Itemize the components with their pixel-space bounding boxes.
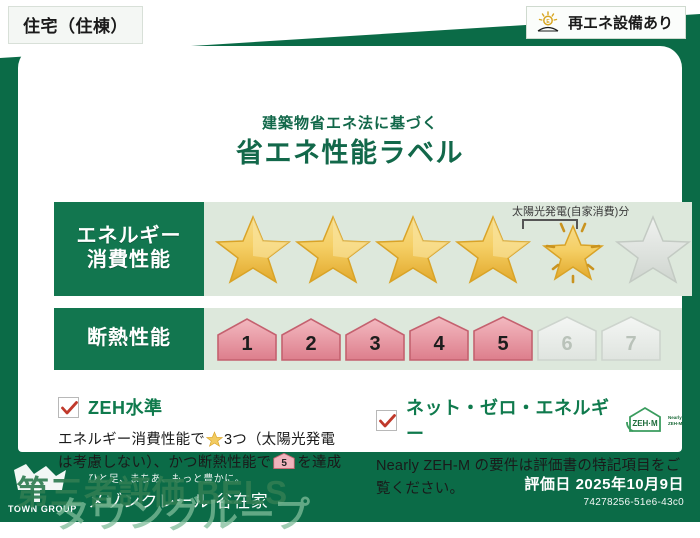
label-card: 建築物省エネ法に基づく 省エネ性能ラベル エネルギー 消費性能 太陽光発電(自家… (18, 46, 682, 452)
net-zero-title: ネット・ゼロ・エネルギー (406, 394, 615, 446)
evaluation-info: 評価日 2025年10月9日 74278256-51e6-43c0 (524, 473, 684, 508)
star-icon-solar-5 (534, 212, 612, 286)
zeh-standard-title: ZEH水準 (88, 394, 163, 420)
property-tagline: ひと足、まちあ、もっと豊かに。 (88, 470, 268, 485)
town-group-text: TOWN GROUP (8, 504, 77, 514)
insulation-level-2: 2 (280, 316, 342, 362)
star-icon-filled-1 (214, 212, 292, 286)
insulation-level-6: 6 (536, 316, 598, 362)
energy-label-line2: 消費性能 (87, 249, 171, 273)
insulation-level-3: 3 (344, 316, 406, 362)
insulation-rating-panel: 1 2 3 4 (204, 308, 682, 370)
insulation-level-1-label: 1 (216, 316, 278, 362)
energy-label-root: 住宅（住棟） E 再エネ設備あり 建築物省エネ法に基づく 省エネ性能ラベル エネ… (0, 0, 700, 522)
property-name: メゾンクレール 谷在家 (88, 487, 268, 512)
building-type-chip: 住宅（住棟） (8, 6, 143, 44)
renewable-equipment-badge: E 再エネ設備あり (526, 6, 686, 39)
insulation-level-2-label: 2 (280, 316, 342, 362)
label-subtitle: 建築物省エネ法に基づく (18, 112, 682, 133)
check-icon-net-zero (376, 410, 397, 431)
svg-text:Nearly: Nearly (668, 415, 682, 420)
star-icon-inline (206, 431, 223, 447)
insulation-level-1: 1 (216, 316, 278, 362)
zeh-standard-description: エネルギー消費性能で3つ（太陽光発電 は考慮しない）、かつ断熱性能で5を達成 (58, 429, 358, 476)
energy-performance-row: エネルギー 消費性能 太陽光発電(自家消費)分 (54, 202, 682, 296)
energy-label-line1: エネルギー (77, 225, 182, 249)
star-rating-group (204, 212, 692, 286)
insulation-level-4-label: 4 (408, 316, 470, 362)
insulation-badge-inline-label: 5 (273, 453, 295, 470)
zeh-standard-heading-row: ZEH水準 (58, 394, 358, 420)
evaluation-date: 評価日 2025年10月9日 (524, 473, 684, 494)
insulation-level-7-label: 7 (600, 316, 662, 362)
star-icon-filled-3 (374, 212, 452, 286)
evaluation-id: 74278256-51e6-43c0 (524, 497, 684, 508)
insulation-level-4: 4 (408, 316, 470, 362)
zeh-desc-part4: を達成 (297, 455, 341, 471)
energy-performance-label: エネルギー 消費性能 (54, 202, 204, 296)
insulation-performance-label: 断熱性能 (54, 308, 204, 370)
check-icon-zeh (58, 397, 79, 418)
zeh-desc-part1: エネルギー消費性能で (58, 432, 205, 448)
insulation-level-5: 5 (472, 316, 534, 362)
insulation-badge-inline: 5 (273, 453, 295, 470)
zeh-desc-part2: 3つ（太陽光発電 (224, 432, 335, 448)
svg-text:ZEH·M: ZEH·M (632, 419, 658, 428)
zeh-m-logo: ZEH·M Nearly ZEH-M (624, 406, 682, 434)
insulation-performance-row: 断熱性能 1 2 (54, 308, 682, 370)
energy-rating-panel: 太陽光発電(自家消費)分 (204, 202, 692, 296)
star-icon-empty-6 (614, 212, 692, 286)
net-zero-heading-row: ネット・ゼロ・エネルギー ZEH·M Nearly ZEH-M (376, 394, 682, 446)
insulation-level-7: 7 (600, 316, 662, 362)
label-title: 省エネ性能ラベル (18, 131, 682, 170)
svg-text:ZEH-M: ZEH-M (668, 421, 682, 426)
renewable-badge-label: 再エネ設備あり (568, 12, 673, 33)
insulation-level-5-label: 5 (472, 316, 534, 362)
sun-solar-icon: E (535, 11, 561, 33)
insulation-level-3-label: 3 (344, 316, 406, 362)
town-group-logo: TOWN GROUP (4, 460, 78, 518)
star-icon-filled-4 (454, 212, 532, 286)
insulation-level-6-label: 6 (536, 316, 598, 362)
zeh-standard-block: ZEH水準 エネルギー消費性能で3つ（太陽光発電 は考慮しない）、かつ断熱性能で… (58, 394, 358, 476)
insulation-level-group: 1 2 3 4 (204, 316, 662, 362)
star-icon-filled-2 (294, 212, 372, 286)
property-info: ひと足、まちあ、もっと豊かに。 メゾンクレール 谷在家 (88, 470, 268, 512)
